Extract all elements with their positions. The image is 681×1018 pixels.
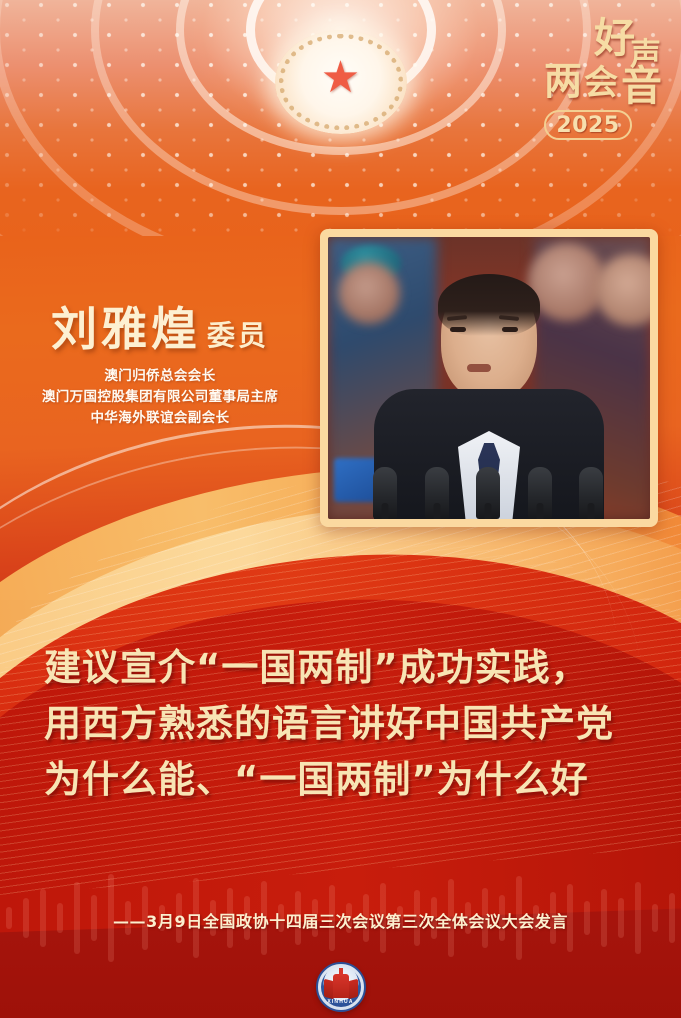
emblem-wing-right — [348, 979, 358, 999]
quote-line-1: 建议宣介“一国两制”成功实践， — [44, 640, 644, 696]
emblem-tower — [333, 974, 349, 998]
campaign-logo: 好 声 两 会 音 2025 — [542, 14, 667, 146]
microphone-5 — [579, 467, 603, 519]
source-caption: ——3月9日全国政协十四届三次会议第三次全体会议大会发言 — [0, 908, 681, 932]
photo-mouth — [467, 364, 491, 372]
photo-eye-left — [450, 327, 466, 332]
microphone-3 — [476, 467, 500, 519]
quote-line-2: 用西方熟悉的语言讲好中国共产党 — [44, 696, 644, 752]
speaker-name: 刘雅煌 — [51, 305, 201, 353]
logo-char-hui: 会 — [584, 66, 618, 100]
speaker-title-2: 澳门万国控股集团有限公司董事局主席 — [0, 387, 320, 408]
emblem-label: XINHUA — [318, 999, 364, 1005]
photo-eye-right — [502, 327, 518, 332]
microphone-1 — [373, 467, 397, 519]
speaker-title-3: 中华海外联谊会副会长 — [0, 408, 320, 429]
photo-microphones — [328, 463, 650, 519]
speaker-title-1: 澳门归侨总会会长 — [0, 366, 320, 387]
quote-line-3: 为什么能、“一国两制”为什么好 — [44, 752, 644, 808]
speaker-name-block: 刘雅煌 委员 澳门归侨总会会长 澳门万国控股集团有限公司董事局主席 中华海外联谊… — [0, 305, 320, 429]
speaker-role-suffix: 委员 — [207, 314, 269, 354]
microphone-2 — [425, 467, 449, 519]
speaker-photo — [328, 237, 650, 519]
quote-block: 建议宣介“一国两制”成功实践， 用西方熟悉的语言讲好中国共产党 为什么能、“一国… — [44, 640, 644, 809]
logo-year-badge: 2025 — [544, 110, 632, 140]
logo-char-yin: 音 — [621, 66, 662, 107]
speaker-name-row: 刘雅煌 委员 — [0, 305, 320, 354]
poster-root: 好 声 两 会 音 2025 — [0, 0, 681, 1018]
speaker-titles: 澳门归侨总会会长 澳门万国控股集团有限公司董事局主席 中华海外联谊会副会长 — [0, 366, 320, 429]
ceiling-medallion — [275, 30, 407, 134]
xinhua-emblem-icon: XINHUA — [316, 962, 366, 1012]
microphone-4 — [528, 467, 552, 519]
photo-bg-person-left — [338, 262, 400, 324]
speaker-photo-frame — [320, 229, 658, 527]
logo-char-hao: 好 — [594, 18, 635, 59]
logo-char-liang: 两 — [544, 62, 582, 100]
